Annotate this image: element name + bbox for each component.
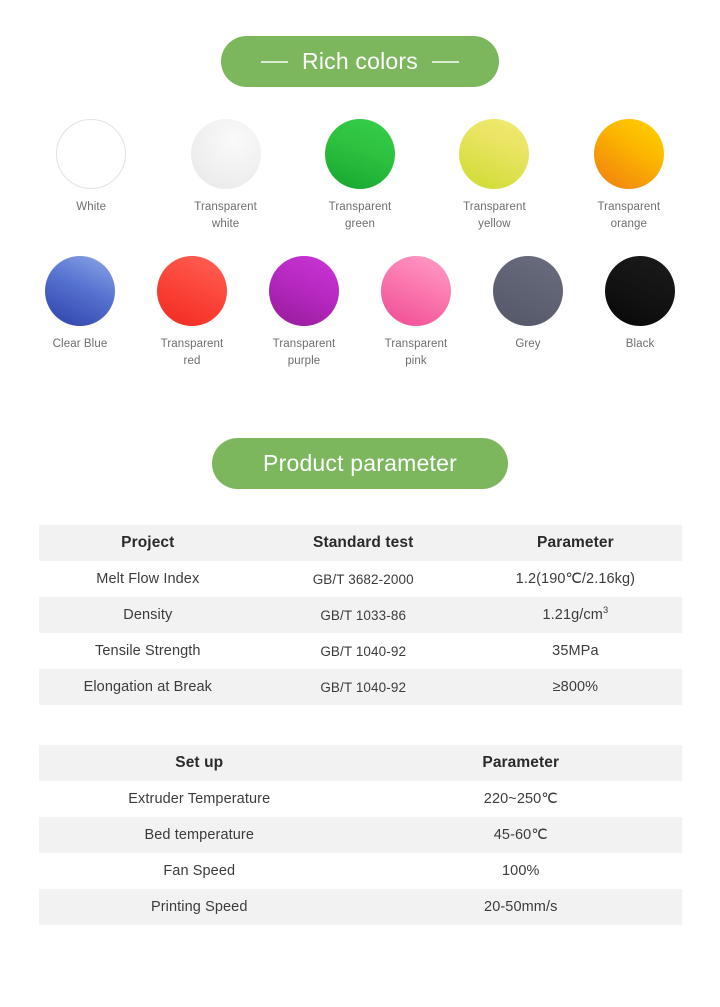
cell-setting: Bed temperature — [39, 817, 361, 853]
color-swatch-label: Transparent red — [161, 336, 224, 370]
color-swatch-item[interactable]: White — [24, 119, 158, 233]
cell-parameter-value: 1.21g/cm — [543, 607, 603, 623]
color-swatch-row-2: Clear Blue Transparent red Transparent p… — [24, 256, 696, 370]
rich-colors-banner-container: Rich colors — [0, 0, 720, 87]
color-swatch-item[interactable]: Transparent yellow — [427, 119, 561, 233]
color-swatch-item[interactable]: Transparent red — [136, 256, 248, 370]
color-swatch-dot[interactable] — [45, 256, 115, 326]
table-row: Melt Flow Index GB/T 3682-2000 1.2(190℃/… — [39, 561, 682, 597]
color-swatch-item[interactable]: Transparent purple — [248, 256, 360, 370]
color-swatch-dot[interactable] — [594, 119, 664, 189]
color-swatch-dot[interactable] — [605, 256, 675, 326]
color-swatch-label: Transparent pink — [385, 336, 448, 370]
color-swatch-label: Transparent orange — [597, 199, 660, 233]
cell-parameter: 1.21g/cm3 — [469, 597, 681, 633]
product-parameter-banner: Product parameter — [212, 438, 508, 489]
product-parameter-banner-title: Product parameter — [263, 450, 457, 477]
cell-standard: GB/T 1040-92 — [257, 669, 469, 705]
banner-dash-left-icon — [261, 61, 288, 63]
color-swatch-label: Transparent purple — [273, 336, 336, 370]
cell-standard: GB/T 1033-86 — [257, 597, 469, 633]
table-header-row: Set up Parameter — [39, 745, 682, 781]
color-swatch-dot[interactable] — [191, 119, 261, 189]
cell-parameter: 100% — [360, 853, 682, 889]
color-swatch-item[interactable]: Transparent white — [158, 119, 292, 233]
column-header-standard-test: Standard test — [257, 525, 469, 561]
color-swatch-label: Grey — [515, 336, 540, 353]
material-spec-table: Project Standard test Parameter Melt Flo… — [39, 525, 682, 705]
rich-colors-banner: Rich colors — [221, 36, 499, 87]
color-swatch-row-1: White Transparent white Transparent gree… — [24, 119, 696, 233]
cell-parameter-superscript: 3 — [603, 604, 608, 615]
cell-setting: Extruder Temperature — [39, 781, 361, 817]
cell-parameter: 45-60℃ — [360, 817, 682, 853]
color-swatch-dot[interactable] — [269, 256, 339, 326]
color-swatch-item[interactable]: Clear Blue — [24, 256, 136, 370]
table-row: Bed temperature 45-60℃ — [39, 817, 682, 853]
cell-project: Density — [39, 597, 258, 633]
table-row: Elongation at Break GB/T 1040-92 ≥800% — [39, 669, 682, 705]
color-swatch-label: Transparent yellow — [463, 199, 526, 233]
column-header-parameter: Parameter — [469, 525, 681, 561]
table-header-row: Project Standard test Parameter — [39, 525, 682, 561]
color-swatch-dot[interactable] — [325, 119, 395, 189]
column-header-project: Project — [39, 525, 258, 561]
color-swatch-label: Clear Blue — [53, 336, 108, 353]
column-header-set-up: Set up — [39, 745, 361, 781]
color-swatch-label: White — [76, 199, 106, 216]
cell-setting: Fan Speed — [39, 853, 361, 889]
color-swatch-grid: White Transparent white Transparent gree… — [0, 119, 720, 370]
cell-project: Tensile Strength — [39, 633, 258, 669]
cell-standard: GB/T 3682-2000 — [257, 561, 469, 597]
table-row: Extruder Temperature 220~250℃ — [39, 781, 682, 817]
table-row: Tensile Strength GB/T 1040-92 35MPa — [39, 633, 682, 669]
color-swatch-dot[interactable] — [493, 256, 563, 326]
rich-colors-banner-title: Rich colors — [302, 48, 418, 75]
color-swatch-dot[interactable] — [157, 256, 227, 326]
product-parameter-banner-container: Product parameter — [0, 370, 720, 489]
setup-spec-table: Set up Parameter Extruder Temperature 22… — [39, 745, 682, 925]
color-swatch-item[interactable]: Grey — [472, 256, 584, 370]
table-row: Printing Speed 20-50mm/s — [39, 889, 682, 925]
cell-parameter: 20-50mm/s — [360, 889, 682, 925]
banner-dash-right-icon — [432, 61, 459, 63]
color-swatch-item[interactable]: Black — [584, 256, 696, 370]
color-swatch-dot[interactable] — [459, 119, 529, 189]
table-row: Density GB/T 1033-86 1.21g/cm3 — [39, 597, 682, 633]
color-swatch-dot[interactable] — [381, 256, 451, 326]
cell-project: Elongation at Break — [39, 669, 258, 705]
color-swatch-dot[interactable] — [56, 119, 126, 189]
color-swatch-label: Transparent green — [329, 199, 392, 233]
color-swatch-item[interactable]: Transparent pink — [360, 256, 472, 370]
cell-parameter: 220~250℃ — [360, 781, 682, 817]
cell-project: Melt Flow Index — [39, 561, 258, 597]
cell-parameter: ≥800% — [469, 669, 681, 705]
cell-standard: GB/T 1040-92 — [257, 633, 469, 669]
cell-parameter: 1.2(190℃/2.16kg) — [469, 561, 681, 597]
table-row: Fan Speed 100% — [39, 853, 682, 889]
color-swatch-label: Black — [626, 336, 655, 353]
cell-setting: Printing Speed — [39, 889, 361, 925]
column-header-parameter: Parameter — [360, 745, 682, 781]
color-swatch-item[interactable]: Transparent green — [293, 119, 427, 233]
cell-parameter: 35MPa — [469, 633, 681, 669]
color-swatch-label: Transparent white — [194, 199, 257, 233]
color-swatch-item[interactable]: Transparent orange — [562, 119, 696, 233]
